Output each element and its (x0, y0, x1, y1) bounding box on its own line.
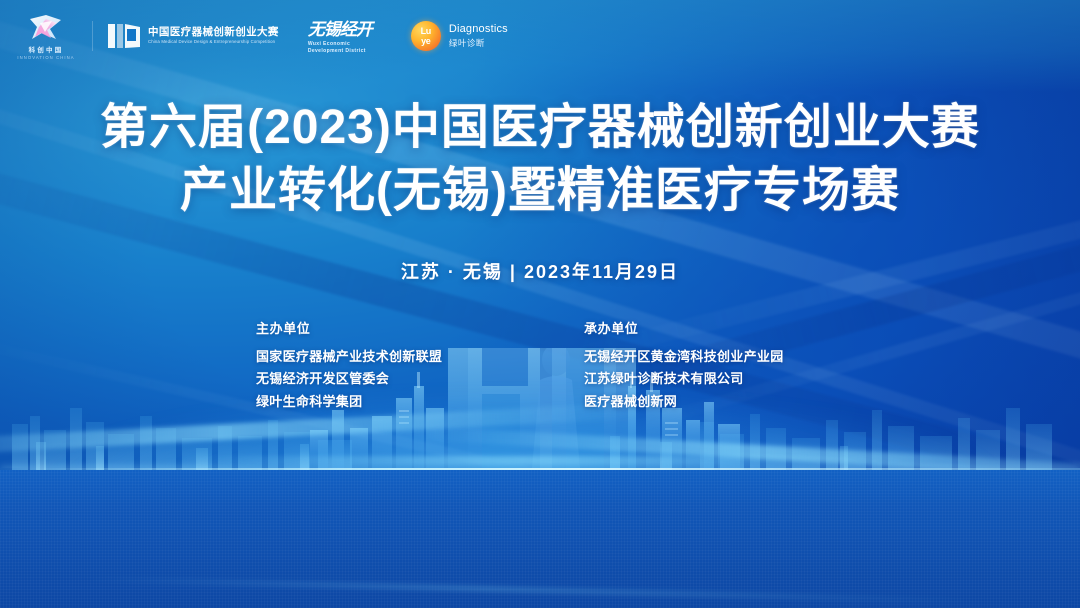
luye-circle-icon: Lu ye (411, 21, 441, 51)
luye-mark-line2: ye (421, 37, 430, 46)
innovation-china-en: INNOVATION CHINA (17, 55, 74, 60)
organizer-heading: 主办单位 (256, 318, 496, 337)
co-organizer-item: 无锡经开区黄金湾科技创业产业园 (584, 346, 824, 368)
innovation-china-icon (26, 12, 66, 42)
luye-en: Diagnostics (449, 23, 508, 35)
logo-divider-1 (92, 21, 93, 51)
co-organizer-column: 承办单位 无锡经开区黄金湾科技创业产业园 江苏绿叶诊断技术有限公司 医疗器械创新… (584, 318, 824, 413)
event-location-date: 江苏 · 无锡 | 2023年11月29日 (0, 258, 1080, 284)
co-organizer-item: 医疗器械创新网 (584, 391, 824, 413)
wedd-cn: 无锡经开 (308, 21, 372, 38)
event-poster: 科创中国 INNOVATION CHINA 中国医疗器械创新创业大赛 China… (0, 0, 1080, 608)
organizer-column: 主办单位 国家医疗器械产业技术创新联盟 无锡经济开发区管委会 绿叶生命科学集团 (256, 318, 496, 413)
organizer-item: 无锡经济开发区管委会 (256, 368, 496, 390)
poster-title: 第六届(2023)中国医疗器械创新创业大赛 产业转化(无锡)暨精准医疗专场赛 (0, 96, 1080, 223)
horizon-beam-center (180, 456, 940, 465)
organizer-item: 国家医疗器械产业技术创新联盟 (256, 346, 496, 368)
cmdc-cn: 中国医疗器械创新创业大赛 (148, 27, 279, 39)
luye-cn: 绿叶诊断 (449, 37, 508, 49)
cmdc-en: China Medical Device Design & Entreprene… (148, 40, 279, 45)
organizing-units: 主办单位 国家医疗器械产业技术创新联盟 无锡经济开发区管委会 绿叶生命科学集团 … (0, 318, 1080, 413)
luye-mark-line1: Lu (421, 27, 431, 36)
sponsor-logo-bar: 科创中国 INNOVATION CHINA 中国医疗器械创新创业大赛 China… (0, 0, 1080, 72)
co-organizer-heading: 承办单位 (584, 318, 824, 337)
logo-china-medical-device-competition: 中国医疗器械创新创业大赛 China Medical Device Design… (107, 22, 279, 50)
logo-wuxi-economic-development-district: 无锡经开 Wuxi Economic Development District (308, 18, 372, 54)
organizer-item: 绿叶生命科学集团 (256, 391, 496, 413)
title-line-2: 产业转化(无锡)暨精准医疗专场赛 (0, 159, 1080, 222)
wedd-icon: 无锡经开 (308, 18, 372, 38)
innovation-china-cn: 科创中国 (29, 44, 64, 54)
logo-luye-diagnostics: Lu ye Diagnostics 绿叶诊断 (411, 21, 508, 51)
wedd-en-line2: Development District (308, 48, 366, 54)
title-line-1: 第六届(2023)中国医疗器械创新创业大赛 (0, 96, 1080, 159)
cmdc-icon (107, 22, 141, 50)
logo-innovation-china: 科创中国 INNOVATION CHINA (14, 12, 78, 60)
co-organizer-item: 江苏绿叶诊断技术有限公司 (584, 368, 824, 390)
wedd-en-line1: Wuxi Economic (308, 41, 350, 47)
